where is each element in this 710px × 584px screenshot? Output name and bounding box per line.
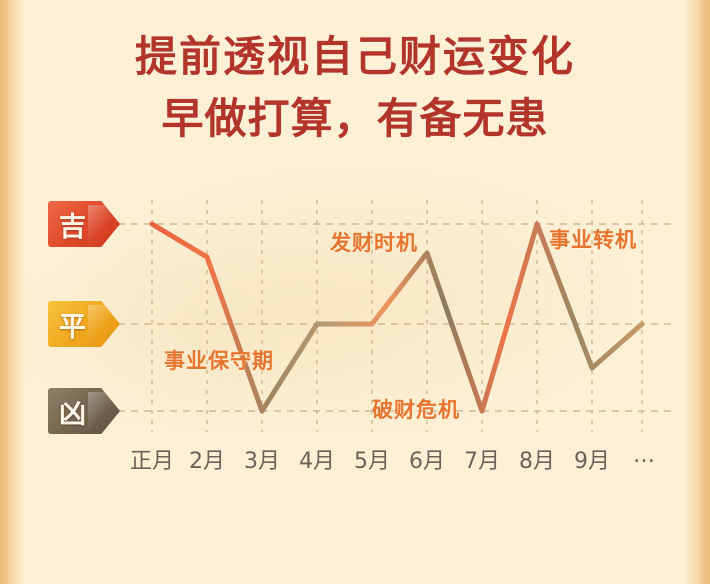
chart-canvas	[0, 0, 710, 584]
annotation-money-loss-crisis: 破财危机	[372, 394, 460, 424]
x-tick-0: 正月	[130, 443, 174, 475]
y-axis-label-neutral-text: 平	[59, 305, 86, 344]
x-tick-3: 4月	[299, 443, 335, 475]
y-axis-label-good-text: 吉	[59, 205, 86, 244]
x-tick-6: 7月	[464, 443, 500, 475]
x-axis: 正月 2月 3月 4月 5月 6月 7月 8月 9月 …	[118, 443, 678, 477]
annotation-career-conservative: 事业保守期	[164, 345, 274, 375]
annotation-wealth-opportunity: 发财时机	[330, 227, 418, 257]
x-tick-8: 9月	[574, 443, 610, 475]
x-tick-7: 8月	[519, 443, 555, 475]
fortune-line-chart: 吉 平 凶 事业保守期 发财时机 破财危机 事业转机 正月 2月 3月 4月 5…	[0, 0, 710, 584]
x-tick-1: 2月	[189, 443, 225, 475]
y-axis-label-bad-text: 凶	[59, 392, 86, 431]
x-tick-4: 5月	[354, 443, 390, 475]
poster-canvas: 提前透视自己财运变化 早做打算，有备无患	[0, 0, 710, 584]
x-tick-9: …	[633, 443, 655, 468]
annotation-career-turnaround: 事业转机	[549, 224, 637, 254]
x-tick-5: 6月	[409, 443, 445, 475]
x-tick-2: 3月	[244, 443, 280, 475]
